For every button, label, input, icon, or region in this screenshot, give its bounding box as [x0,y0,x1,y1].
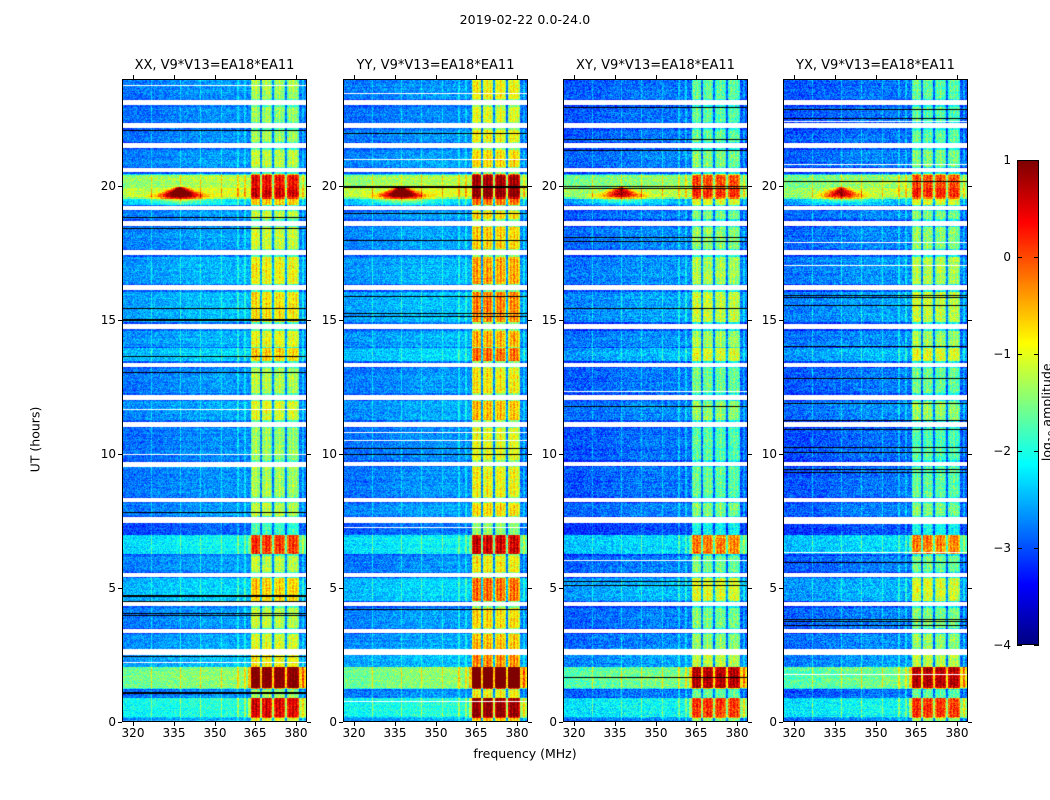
x-tick-label: 365 [465,726,488,744]
y-tick [779,454,783,455]
colorbar-tick [1017,548,1022,549]
colorbar-label-prefix: log [1039,442,1050,461]
x-tick-label: 350 [645,726,668,744]
x-tick-top [835,75,836,79]
colorbar-tick-label: 0 [983,250,1011,264]
x-tick-label: 335 [604,726,627,744]
x-tick-label: 320 [563,726,586,744]
x-tick-label: 335 [163,726,186,744]
y-tick-label: 5 [741,581,777,595]
x-tick-label: 365 [244,726,267,744]
y-tick-label: 20 [301,179,337,193]
y-tick-right [968,722,972,723]
y-tick-right [968,320,972,321]
x-tick-top [696,75,697,79]
x-tick-label: 320 [122,726,145,744]
colorbar-tick-inner [1034,451,1039,452]
x-tick-top [517,75,518,79]
y-tick-label: 0 [301,715,337,729]
y-tick-label: 10 [741,447,777,461]
y-tick-label: 0 [521,715,557,729]
colorbar-tick-label: −3 [983,541,1011,555]
y-tick-right [968,186,972,187]
x-tick-label: 320 [343,726,366,744]
y-tick-right [968,588,972,589]
y-tick [118,186,122,187]
colorbar-tick [1017,451,1022,452]
colorbar-tick [1017,354,1022,355]
y-tick-label: 10 [80,447,116,461]
y-tick-label: 15 [521,313,557,327]
colorbar-tick-inner [1034,548,1039,549]
waterfall-panel-yx[interactable] [783,79,968,722]
panel-title-yx: YX, V9*V13=EA18*EA11 [783,58,968,76]
y-tick-label: 0 [80,715,116,729]
y-tick [339,186,343,187]
x-tick-label: 320 [783,726,806,744]
x-tick-label: 350 [425,726,448,744]
y-tick-label: 15 [741,313,777,327]
y-tick [559,454,563,455]
y-tick-label: 15 [301,313,337,327]
colorbar-tick-inner [1034,645,1039,646]
x-tick-top [296,75,297,79]
y-tick-label: 5 [521,581,557,595]
x-tick-top [737,75,738,79]
y-tick [339,722,343,723]
x-tick-label: 350 [865,726,888,744]
colorbar-tick [1017,257,1022,258]
y-tick-label: 20 [741,179,777,193]
x-tick-label: 350 [204,726,227,744]
y-tick-right [968,454,972,455]
x-tick-label: 335 [824,726,847,744]
colorbar[interactable] [1017,160,1039,645]
colorbar-label-suffix: amplitude [1039,363,1050,430]
y-tick-label: 5 [80,581,116,595]
colorbar-label: log10 amplitude [1039,322,1050,502]
x-tick-top [174,75,175,79]
y-tick [559,588,563,589]
colorbar-tick [1017,160,1022,161]
x-tick-top [916,75,917,79]
colorbar-tick-inner [1034,354,1039,355]
y-tick [559,320,563,321]
y-tick [339,454,343,455]
figure-canvas: 2019-02-22 0.0-24.0 XX, V9*V13=EA18*EA11… [0,0,1050,800]
y-tick [339,320,343,321]
x-tick-top [133,75,134,79]
waterfall-panel-yy[interactable] [343,79,528,722]
colorbar-tick-inner [1034,257,1039,258]
y-tick [779,186,783,187]
x-tick-top [436,75,437,79]
x-tick-top [354,75,355,79]
x-tick-top [876,75,877,79]
x-tick-top [794,75,795,79]
y-tick-label: 0 [741,715,777,729]
x-tick-top [574,75,575,79]
colorbar-tick-label: −2 [983,444,1011,458]
y-tick [559,186,563,187]
y-tick-label: 15 [80,313,116,327]
colorbar-tick-label: −4 [983,638,1011,652]
colorbar-tick-label: −1 [983,347,1011,361]
x-tick-top [957,75,958,79]
waterfall-panel-xy[interactable] [563,79,748,722]
x-tick-top [255,75,256,79]
x-tick-top [615,75,616,79]
y-tick [118,454,122,455]
colorbar-tick-label: 1 [983,153,1011,167]
y-tick-label: 20 [80,179,116,193]
colorbar-tick-inner [1034,160,1039,161]
y-tick [118,722,122,723]
y-tick [559,722,563,723]
x-tick-top [656,75,657,79]
y-tick [339,588,343,589]
waterfall-panel-xx[interactable] [122,79,307,722]
y-axis-label: UT (hours) [28,380,43,500]
y-tick [118,588,122,589]
x-tick-top [476,75,477,79]
x-tick-label: 365 [685,726,708,744]
y-tick [779,320,783,321]
figure-suptitle: 2019-02-22 0.0-24.0 [0,12,1050,27]
colorbar-tick [1017,645,1022,646]
x-tick-top [215,75,216,79]
y-tick [118,320,122,321]
y-tick-label: 10 [521,447,557,461]
panel-title-xx: XX, V9*V13=EA18*EA11 [122,58,307,76]
y-tick [779,722,783,723]
x-tick-top [395,75,396,79]
panel-title-yy: YY, V9*V13=EA18*EA11 [343,58,528,76]
x-axis-label: frequency (MHz) [0,746,1050,761]
panel-title-xy: XY, V9*V13=EA18*EA11 [563,58,748,76]
x-tick-label: 335 [384,726,407,744]
y-tick-label: 20 [521,179,557,193]
x-tick-label: 365 [905,726,928,744]
y-tick-label: 5 [301,581,337,595]
x-tick-label: 380 [946,726,969,744]
y-tick-label: 10 [301,447,337,461]
y-tick [779,588,783,589]
